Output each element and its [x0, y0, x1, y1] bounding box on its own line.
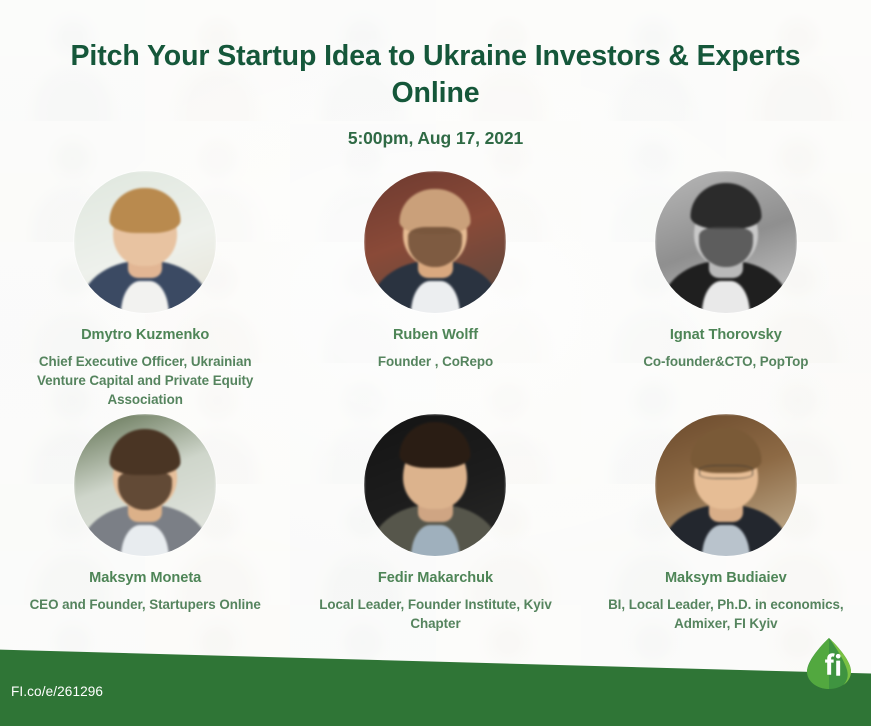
poster-header: Pitch Your Startup Idea to Ukraine Inves…: [0, 0, 871, 149]
event-datetime: 5:00pm, Aug 17, 2021: [0, 128, 871, 149]
speaker-card: Ruben WolffFounder , CoRepo: [290, 171, 580, 410]
speaker-name: Fedir Makarchuk: [302, 570, 568, 586]
event-poster: Pitch Your Startup Idea to Ukraine Inves…: [0, 0, 871, 726]
speaker-avatar: [655, 171, 797, 313]
speaker-photo: [74, 414, 216, 556]
poster-content: Pitch Your Startup Idea to Ukraine Inves…: [0, 0, 871, 726]
speaker-avatar: [655, 414, 797, 556]
speaker-avatar: [364, 171, 506, 313]
speaker-photo: [655, 414, 797, 556]
speaker-photo: [364, 414, 506, 556]
speaker-role: Local Leader, Founder Institute, Kyiv Ch…: [302, 595, 568, 634]
speaker-card: Dmytro KuzmenkoChief Executive Officer, …: [0, 171, 290, 410]
speaker-name: Ruben Wolff: [302, 327, 568, 343]
speaker-name: Maksym Moneta: [12, 570, 278, 586]
speaker-role: Chief Executive Officer, Ukrainian Ventu…: [12, 352, 278, 410]
event-title: Pitch Your Startup Idea to Ukraine Inves…: [0, 38, 871, 112]
speaker-avatar: [74, 171, 216, 313]
speaker-name: Maksym Budiaiev: [593, 570, 859, 586]
speaker-card: Fedir MakarchukLocal Leader, Founder Ins…: [290, 414, 580, 634]
footer-event-url[interactable]: FI.co/e/261296: [11, 684, 103, 699]
speaker-card: Maksym BudiaievBI, Local Leader, Ph.D. i…: [581, 414, 871, 634]
speakers-grid: Dmytro KuzmenkoChief Executive Officer, …: [0, 171, 871, 634]
speaker-role: Founder , CoRepo: [302, 352, 568, 371]
speaker-role: Co-founder&CTO, PopTop: [593, 352, 859, 371]
speaker-photo: [655, 171, 797, 313]
speaker-name: Ignat Thorovsky: [593, 327, 859, 343]
founder-institute-logo-icon: [803, 636, 855, 692]
speaker-avatar: [74, 414, 216, 556]
speaker-avatar: [364, 414, 506, 556]
speaker-role: CEO and Founder, Startupers Online: [12, 595, 278, 614]
speaker-name: Dmytro Kuzmenko: [12, 327, 278, 343]
speaker-role: BI, Local Leader, Ph.D. in economics, Ad…: [593, 595, 859, 634]
speaker-card: Maksym MonetaCEO and Founder, Startupers…: [0, 414, 290, 634]
speaker-card: Ignat ThorovskyCo-founder&CTO, PopTop: [581, 171, 871, 410]
speaker-photo: [74, 171, 216, 313]
speaker-photo: [364, 171, 506, 313]
